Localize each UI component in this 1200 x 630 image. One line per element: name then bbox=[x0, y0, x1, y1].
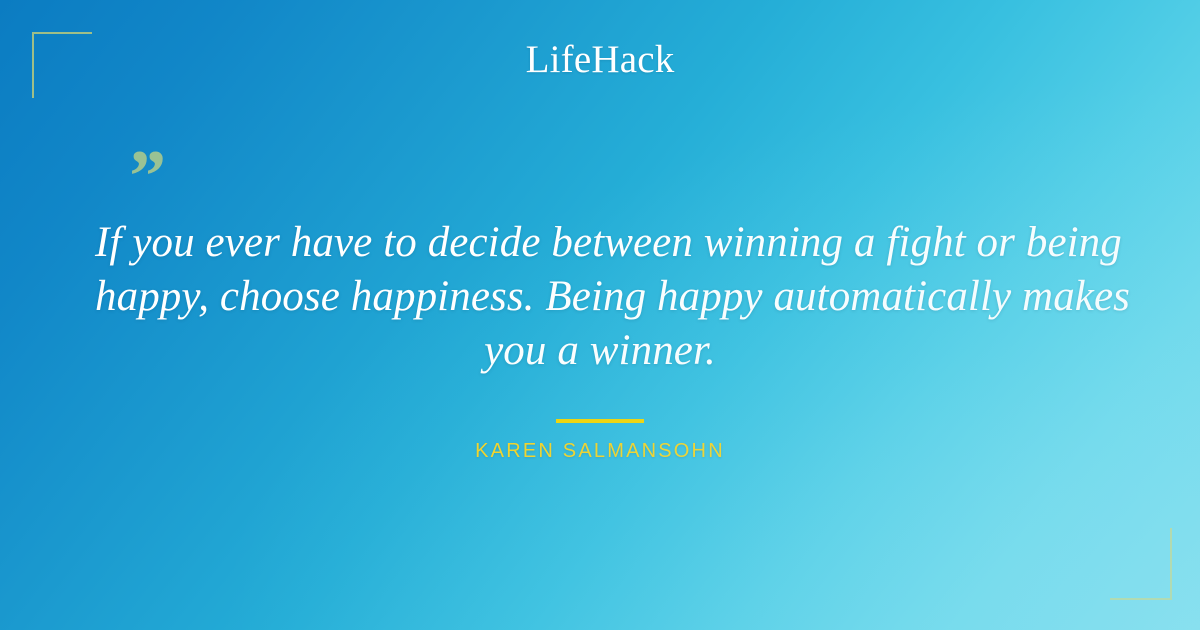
quotation-mark-icon: ” bbox=[125, 140, 164, 214]
quote-text: If you ever have to decide between winni… bbox=[95, 216, 1105, 377]
quote-line: If you ever have to decide between winni… bbox=[95, 216, 1105, 270]
brand-logo: LifeHack bbox=[0, 40, 1200, 79]
quote-block: ” If you ever have to decide between win… bbox=[0, 140, 1200, 463]
quote-card: LifeHack ” If you ever have to decide be… bbox=[0, 0, 1200, 630]
divider bbox=[556, 419, 644, 423]
corner-bracket-bottom-right-icon bbox=[1110, 528, 1172, 600]
quote-line: happy, choose happiness. Being happy aut… bbox=[95, 270, 1105, 324]
quote-author: KAREN SALMANSOHN bbox=[0, 440, 1200, 463]
quote-line: you a winner. bbox=[95, 324, 1105, 378]
